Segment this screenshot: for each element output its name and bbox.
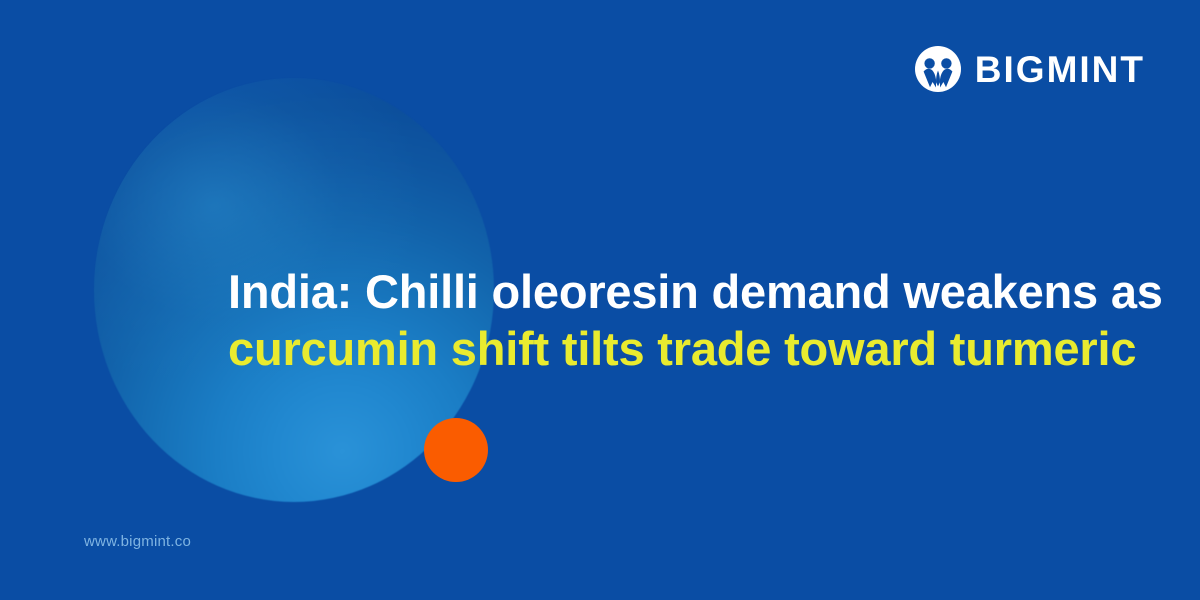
news-banner: BIGMINT India: Chilli oleoresin demand w… (0, 0, 1200, 600)
page-title: India: Chilli oleoresin demand weakens a… (228, 263, 1168, 377)
site-url[interactable]: www.bigmint.co (84, 533, 191, 550)
headline-line-2-accent: curcumin shift tilts trade toward (228, 322, 937, 375)
headline-line-3-accent: turmeric (950, 322, 1136, 375)
brand-logo[interactable]: BIGMINT (915, 46, 1145, 92)
brand-name: BIGMINT (975, 51, 1145, 88)
headline-line-1: India: Chilli oleoresin demand weakens (228, 265, 1098, 318)
decorative-orange-dot (424, 418, 488, 482)
headline-line-2-plain: as (1111, 265, 1163, 318)
bigmint-logo-icon (915, 46, 961, 92)
